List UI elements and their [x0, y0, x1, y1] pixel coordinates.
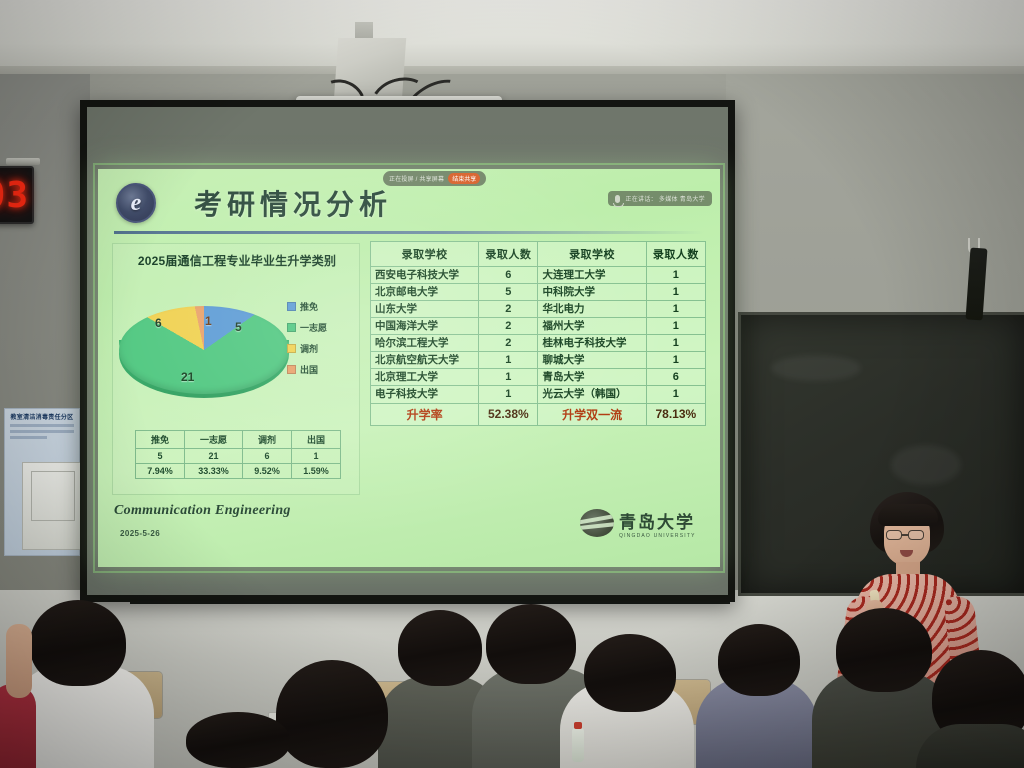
summary-header: 一志愿	[184, 431, 242, 449]
screen-share-toast[interactable]: 正在投屏 / 共享屏幕 结束共享	[383, 171, 486, 186]
summary-percent: 7.94%	[136, 464, 185, 479]
university-mark-icon	[580, 509, 614, 537]
school-name: 西安电子科技大学	[371, 267, 479, 284]
slide-title: 考研情况分析	[194, 183, 392, 223]
pie-summary-table: 推免 一志愿 调剂 出国 5 21 6 1 7.94% 33.33% 9	[135, 430, 341, 479]
active-speaker-toast: 正在讲话： 多媒体 青岛大学	[608, 191, 712, 206]
school-count: 1	[646, 352, 705, 369]
active-speaker-text: 正在讲话： 多媒体 青岛大学	[625, 194, 705, 203]
school-count: 2	[479, 301, 538, 318]
student-head	[836, 608, 932, 692]
clock-digits: 03	[0, 175, 32, 216]
glasses-lens-left-icon	[886, 530, 902, 540]
student-head	[486, 604, 576, 684]
screen-share-toast-text: 正在投屏 / 共享屏幕	[389, 174, 444, 183]
poster-line	[10, 424, 74, 427]
table-row: 西安电子科技大学 6 大连理工大学 1	[371, 267, 706, 284]
school-count: 1	[646, 318, 705, 335]
school-name: 聊城大学	[538, 352, 646, 369]
slide-logo-icon: e	[116, 183, 156, 223]
legend-swatch-icon	[287, 365, 296, 374]
school-name: 北京邮电大学	[371, 284, 479, 301]
school-count: 1	[646, 386, 705, 403]
student-head	[398, 610, 482, 686]
summary-percent: 1.59%	[292, 464, 341, 479]
summary-count: 1	[292, 449, 341, 464]
microphone-icon	[615, 195, 620, 203]
lecture-room: 03 教室清洁消毒责任分区 e 考研情况分析	[0, 0, 1024, 768]
legend-item: 一志愿	[287, 321, 349, 334]
bottle-cap	[574, 722, 582, 729]
table-row: 5 21 6 1	[136, 449, 341, 464]
summary-percent: 9.52%	[243, 464, 292, 479]
table-row: 电子科技大学 1 光云大学（韩国） 1	[371, 386, 706, 403]
school-name: 福州大学	[538, 318, 646, 335]
school-count: 1	[646, 284, 705, 301]
school-count: 1	[646, 267, 705, 284]
school-count: 6	[479, 267, 538, 284]
school-name: 哈尔滨工程大学	[371, 335, 479, 352]
legend-label: 一志愿	[300, 321, 327, 334]
pie-chart: 5 21 6 1	[119, 288, 299, 418]
table-header-row: 录取学校 录取人数 录取学校 录取人数	[371, 242, 706, 267]
pie-chart-panel: 2025届通信工程专业毕业生升学类别 5 21 6 1 推免	[112, 243, 360, 495]
school-count: 5	[479, 284, 538, 301]
water-bottle	[572, 728, 584, 762]
poster-sheet-box	[31, 471, 75, 521]
summary-count: 5	[136, 449, 185, 464]
projection-screen: e 考研情况分析 正在投屏 / 共享屏幕 结束共享 正在讲话： 多媒体 青岛大学…	[80, 100, 735, 602]
poster-line	[10, 436, 47, 439]
poster-sheet	[22, 462, 82, 550]
column-header-school-a: 录取学校	[371, 242, 479, 267]
pie-label-chuguo: 1	[205, 314, 212, 328]
pie-top	[119, 306, 289, 394]
pie-legend: 推免 一志愿 调剂 出国	[287, 300, 349, 384]
pie-chart-title: 2025届通信工程专业毕业生升学类别	[113, 252, 361, 269]
legend-label: 推免	[300, 300, 318, 313]
student-forearm	[6, 624, 32, 698]
glasses-bridge-icon	[902, 534, 908, 536]
digital-clock: 03	[0, 166, 34, 224]
student-head	[30, 600, 126, 686]
clock-bracket	[6, 158, 40, 165]
table-row: 推免 一志愿 调剂 出国	[136, 431, 341, 449]
legend-item: 出国	[287, 363, 349, 376]
school-name: 北京航空航天大学	[371, 352, 479, 369]
legend-label: 调剂	[300, 342, 318, 355]
slide-date: 2025-5-26	[120, 529, 160, 538]
table-row: 中国海洋大学 2 福州大学 1	[371, 318, 706, 335]
table-row: 北京邮电大学 5 中科院大学 1	[371, 284, 706, 301]
admissions-table: 录取学校 录取人数 录取学校 录取人数 西安电子科技大学 6 大连理工大学 1 …	[370, 241, 706, 426]
table-row: 北京航空航天大学 1 聊城大学 1	[371, 352, 706, 369]
audience	[0, 588, 1024, 768]
total-label-double-first-class: 升学双一流	[538, 403, 646, 425]
student-head	[276, 660, 388, 768]
column-header-count-b: 录取人数	[646, 242, 705, 267]
summary-header: 推免	[136, 431, 185, 449]
table-row: 哈尔滨工程大学 2 桂林电子科技大学 1	[371, 335, 706, 352]
legend-item: 调剂	[287, 342, 349, 355]
total-label-enrollment-rate: 升学率	[371, 403, 479, 425]
pie-label-tuimian: 5	[235, 320, 242, 334]
school-name: 中科院大学	[538, 284, 646, 301]
school-count: 2	[479, 318, 538, 335]
legend-item: 推免	[287, 300, 349, 313]
summary-count: 21	[184, 449, 242, 464]
university-name-cn: 青岛大学	[619, 508, 696, 533]
school-name: 青岛大学	[538, 369, 646, 386]
legend-swatch-icon	[287, 323, 296, 332]
total-value-enrollment-rate: 52.38%	[479, 403, 538, 425]
school-name: 桂林电子科技大学	[538, 335, 646, 352]
column-header-count-a: 录取人数	[479, 242, 538, 267]
student-head	[186, 712, 290, 768]
projected-slide: e 考研情况分析 正在投屏 / 共享屏幕 结束共享 正在讲话： 多媒体 青岛大学…	[98, 169, 720, 567]
glasses-lens-right-icon	[908, 530, 924, 540]
slide-footer-brand: Communication Engineering	[114, 503, 291, 519]
table-row: 7.94% 33.33% 9.52% 1.59%	[136, 464, 341, 479]
slide-title-rule	[114, 231, 704, 234]
poster-line	[10, 430, 74, 433]
summary-count: 6	[243, 449, 292, 464]
total-value-double-first-class: 78.13%	[646, 403, 705, 425]
school-name: 华北电力	[538, 301, 646, 318]
table-row: 北京理工大学 1 青岛大学 6	[371, 369, 706, 386]
pie-label-tiaoji: 6	[155, 316, 162, 330]
column-header-school-b: 录取学校	[538, 242, 646, 267]
university-name-en: QINGDAO UNIVERSITY	[619, 533, 696, 539]
school-count: 1	[646, 301, 705, 318]
school-name: 电子科技大学	[371, 386, 479, 403]
summary-header: 出国	[292, 431, 341, 449]
school-name: 北京理工大学	[371, 369, 479, 386]
school-count: 1	[479, 386, 538, 403]
ceiling	[0, 0, 1024, 72]
school-count: 2	[479, 335, 538, 352]
table-row: 山东大学 2 华北电力 1	[371, 301, 706, 318]
school-count: 6	[646, 369, 705, 386]
presenter-fringe	[878, 504, 938, 526]
pie-label-yizhiyuan: 21	[181, 370, 194, 384]
university-logo: 青岛大学 QINGDAO UNIVERSITY	[580, 505, 710, 541]
school-count: 1	[646, 335, 705, 352]
school-name: 大连理工大学	[538, 267, 646, 284]
school-count: 1	[479, 352, 538, 369]
legend-swatch-icon	[287, 344, 296, 353]
school-count: 1	[479, 369, 538, 386]
student-head	[718, 624, 800, 696]
poster-title: 教室清洁消毒责任分区	[5, 409, 79, 421]
slide-logo-letter: e	[131, 190, 142, 217]
school-name: 山东大学	[371, 301, 479, 318]
legend-label: 出国	[300, 363, 318, 376]
stop-share-button[interactable]: 结束共享	[448, 173, 480, 184]
summary-percent: 33.33%	[184, 464, 242, 479]
school-name: 中国海洋大学	[371, 318, 479, 335]
summary-header: 调剂	[243, 431, 292, 449]
legend-swatch-icon	[287, 302, 296, 311]
table-totals-row: 升学率 52.38% 升学双一流 78.13%	[371, 403, 706, 425]
student-head	[584, 634, 676, 712]
school-name: 光云大学（韩国）	[538, 386, 646, 403]
